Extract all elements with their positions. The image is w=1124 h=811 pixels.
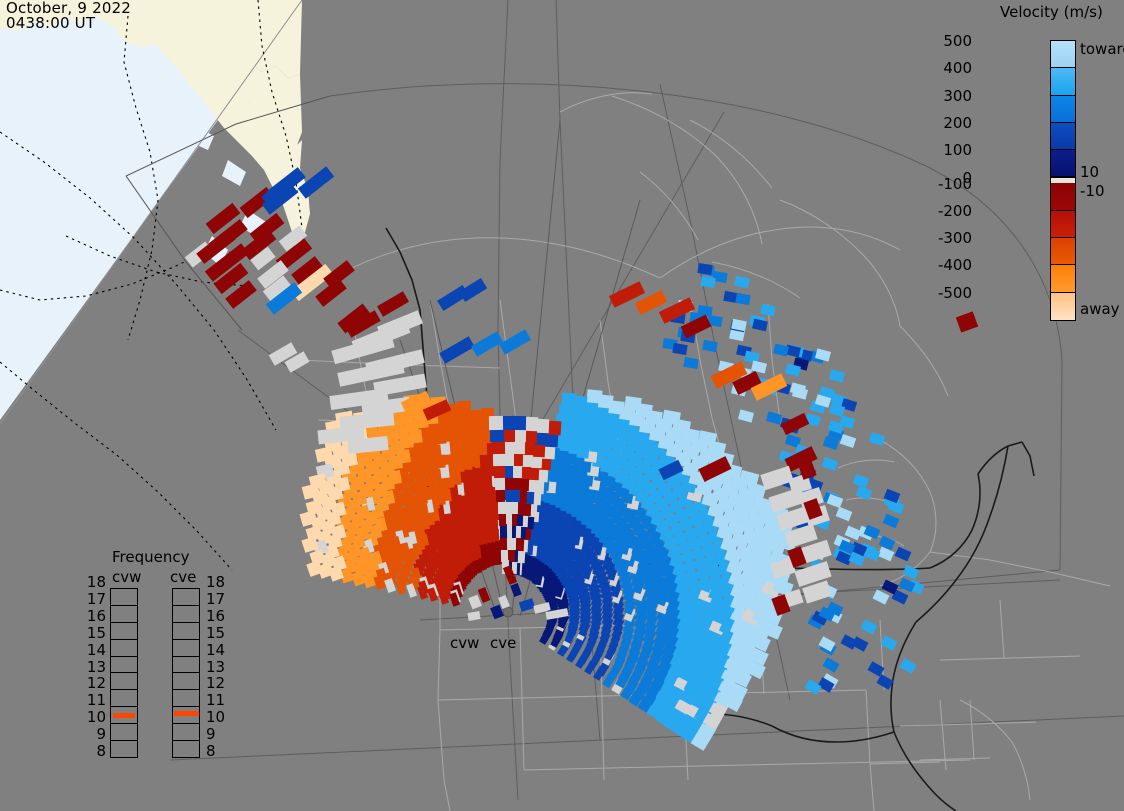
velocity-cell xyxy=(822,457,839,471)
velocity-cell xyxy=(822,657,839,673)
velocity-away-label: away xyxy=(1080,300,1120,318)
velocity-cell xyxy=(684,357,700,369)
frequency-cell-cvw-9 xyxy=(111,741,137,758)
velocity-cell xyxy=(499,524,506,538)
velocity-cell xyxy=(377,291,409,316)
velocity-band-8 xyxy=(1051,238,1075,265)
velocity-tick-200: 200 xyxy=(943,114,972,132)
velocity-cell xyxy=(878,547,895,562)
velocity-cell xyxy=(697,263,712,275)
velocity-cell xyxy=(698,430,718,446)
velocity-cell xyxy=(624,396,641,411)
velocity-cell xyxy=(785,364,801,377)
velocity-inner-negative-label: -10 xyxy=(1080,182,1105,200)
frequency-scale-left-9: 9 xyxy=(96,725,106,743)
frequency-legend-title: Frequency xyxy=(112,548,190,566)
velocity-cell xyxy=(467,611,480,621)
velocity-cell xyxy=(826,494,843,508)
frequency-cell-cvw-5 xyxy=(111,673,137,690)
velocity-cell xyxy=(840,434,856,448)
velocity-cell xyxy=(735,293,751,305)
frequency-scale-right-12: 12 xyxy=(206,674,225,692)
frequency-scale-left-17: 17 xyxy=(87,590,106,608)
frequency-cell-cvw-4 xyxy=(111,657,137,674)
velocity-cell xyxy=(459,278,487,302)
velocity-cell xyxy=(700,276,715,288)
velocity-cell xyxy=(500,536,507,550)
velocity-cell xyxy=(501,548,508,562)
velocity-cell xyxy=(829,369,845,382)
frequency-cell-cve-4 xyxy=(173,657,199,674)
velocity-cell xyxy=(499,329,531,354)
timestamp-label: October, 9 2022 0438:00 UT xyxy=(6,1,131,31)
frequency-scale-left-12: 12 xyxy=(87,674,106,692)
velocity-cell xyxy=(662,409,681,424)
velocity-band-0 xyxy=(1051,41,1075,68)
velocity-cell xyxy=(792,387,808,400)
frequency-cell-cvw-8 xyxy=(111,724,137,741)
frequency-scale-left-8: 8 xyxy=(96,742,106,760)
velocity-cell xyxy=(855,486,872,500)
velocity-cell xyxy=(869,432,886,446)
velocity-cell xyxy=(882,514,899,529)
frequency-scale-left-18: 18 xyxy=(87,573,106,591)
velocity-band-4 xyxy=(1051,150,1075,177)
frequency-scale-right-16: 16 xyxy=(206,607,225,625)
velocity-tick--300: -300 xyxy=(938,229,972,247)
velocity-band-3 xyxy=(1051,123,1075,150)
velocity-band-7 xyxy=(1051,211,1075,238)
velocity-legend: Velocity (m/s) 5004003002001000-100-200-… xyxy=(948,0,1124,340)
velocity-cell xyxy=(760,304,776,317)
velocity-cell xyxy=(494,464,505,478)
frequency-scale-right-15: 15 xyxy=(206,624,225,642)
velocity-colorbar xyxy=(1050,40,1076,321)
frequency-legend: Frequency cvw cve 18171615141312111098 1… xyxy=(84,548,264,768)
velocity-cell xyxy=(899,658,916,674)
frequency-cell-cve-5 xyxy=(173,673,199,690)
velocity-tick-100: 100 xyxy=(943,141,972,159)
velocity-cell xyxy=(499,512,506,526)
frequency-track-cvw xyxy=(110,588,138,758)
frequency-cell-cve-9 xyxy=(173,741,199,758)
frequency-cell-cvw-0 xyxy=(111,589,137,606)
velocity-cell xyxy=(496,488,505,502)
frequency-scale-right-10: 10 xyxy=(206,708,225,726)
velocity-cell xyxy=(489,416,504,430)
frequency-cell-cve-6 xyxy=(173,690,199,707)
velocity-cell xyxy=(845,525,862,540)
velocity-tick--200: -200 xyxy=(938,202,972,220)
velocity-cell xyxy=(752,319,768,332)
frequency-cell-cve-1 xyxy=(173,606,199,623)
velocity-cell xyxy=(860,620,877,635)
frequency-cell-cve-3 xyxy=(173,640,199,657)
velocity-tick--100: -100 xyxy=(938,175,972,193)
frequency-scale-right-17: 17 xyxy=(206,590,225,608)
velocity-tick-400: 400 xyxy=(943,59,972,77)
velocity-cell xyxy=(902,564,919,579)
frequency-cell-cve-0 xyxy=(173,589,199,606)
velocity-tick-300: 300 xyxy=(943,87,972,105)
velocity-cell xyxy=(836,507,853,521)
velocity-cell xyxy=(894,546,911,561)
velocity-cell xyxy=(872,589,889,604)
velocity-cell xyxy=(766,412,782,425)
frequency-scale-right-13: 13 xyxy=(206,658,225,676)
frequency-scale-left-14: 14 xyxy=(87,641,106,659)
frequency-scale-right-9: 9 xyxy=(206,725,216,743)
frequency-marker-cve xyxy=(174,711,199,716)
velocity-toward-label: toward xyxy=(1080,40,1124,58)
velocity-cell xyxy=(495,476,505,490)
velocity-cell xyxy=(880,635,897,650)
velocity-cell xyxy=(492,440,505,454)
frequency-scale-right-14: 14 xyxy=(206,641,225,659)
velocity-tick--400: -400 xyxy=(938,256,972,274)
velocity-cell xyxy=(702,340,718,352)
velocity-legend-title: Velocity (m/s) xyxy=(1000,3,1103,21)
frequency-cell-cvw-1 xyxy=(111,606,137,623)
frequency-scale-left-15: 15 xyxy=(87,624,106,642)
frequency-column-label-cvw: cvw xyxy=(112,568,141,586)
velocity-cell xyxy=(672,343,687,355)
velocity-cell xyxy=(493,452,505,466)
frequency-track-cve xyxy=(172,588,200,758)
frequency-scale-left-16: 16 xyxy=(87,607,106,625)
velocity-band-2 xyxy=(1051,96,1075,123)
velocity-cell xyxy=(439,336,474,363)
velocity-inner-positive-label: 10 xyxy=(1080,163,1099,181)
velocity-band-9 xyxy=(1051,265,1075,292)
velocity-band-10 xyxy=(1051,293,1075,320)
frequency-cell-cve-8 xyxy=(173,724,199,741)
velocity-cell xyxy=(298,166,334,198)
velocity-cell xyxy=(497,500,505,514)
velocity-cell xyxy=(738,409,754,422)
frequency-cell-cve-2 xyxy=(173,623,199,640)
frequency-scale-left-10: 10 xyxy=(87,708,106,726)
velocity-cell xyxy=(510,583,522,597)
velocity-cell xyxy=(734,276,750,288)
frequency-scale-left-11: 11 xyxy=(87,691,106,709)
velocity-cell xyxy=(681,315,712,339)
frequency-scale-right-11: 11 xyxy=(206,691,225,709)
velocity-band-6 xyxy=(1051,183,1075,210)
site-label-cvw: cvw xyxy=(450,634,479,652)
frequency-column-label-cve: cve xyxy=(170,568,196,586)
velocity-tick-500: 500 xyxy=(943,32,972,50)
velocity-tick--500: -500 xyxy=(938,284,972,302)
velocity-cell xyxy=(587,390,603,404)
frequency-cell-cvw-6 xyxy=(111,690,137,707)
velocity-cell xyxy=(490,428,504,442)
velocity-cell xyxy=(863,546,880,561)
frequency-scale-left-13: 13 xyxy=(87,658,106,676)
frequency-cell-cvw-3 xyxy=(111,640,137,657)
velocity-band-1 xyxy=(1051,68,1075,95)
radar-map-view: October, 9 2022 0438:00 UT cvw cve Veloc… xyxy=(0,0,1124,811)
frequency-scale-right-18: 18 xyxy=(206,573,225,591)
frequency-cell-cvw-2 xyxy=(111,623,137,640)
velocity-cell xyxy=(561,392,576,406)
frequency-marker-cvw xyxy=(113,713,135,718)
frequency-scale-right-8: 8 xyxy=(206,742,216,760)
velocity-cell xyxy=(773,344,789,357)
site-label-cve: cve xyxy=(490,634,516,652)
